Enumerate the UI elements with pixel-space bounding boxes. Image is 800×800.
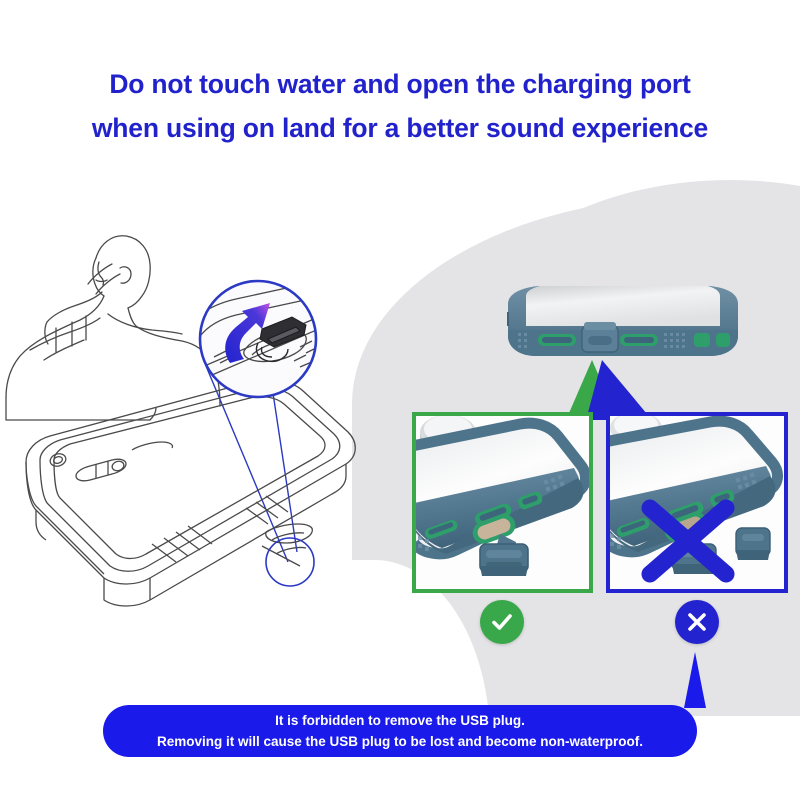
status-badge-incorrect	[675, 600, 719, 644]
infographic-page: Do not touch water and open the charging…	[0, 0, 800, 800]
title-line-2: when using on land for a better sound ex…	[0, 106, 800, 150]
check-icon	[489, 609, 515, 635]
page-title: Do not touch water and open the charging…	[0, 62, 800, 150]
close-icon	[684, 609, 710, 635]
blue-arrow-to-port	[586, 360, 652, 420]
panel-usb-plug-attached	[412, 412, 593, 593]
converging-arrows	[470, 360, 710, 420]
title-line-1: Do not touch water and open the charging…	[0, 62, 800, 106]
magnified-charging-port-detail	[196, 277, 320, 401]
caption-pointer-arrow	[680, 652, 710, 708]
panel-usb-plug-removed	[606, 412, 788, 593]
caption-line-2: Removing it will cause the USB plug to b…	[157, 731, 643, 752]
status-badge-correct	[480, 600, 524, 644]
charging-port-cover	[582, 322, 618, 352]
caption-line-1: It is forbidden to remove the USB plug.	[275, 710, 525, 731]
warning-caption-box: It is forbidden to remove the USB plug. …	[103, 705, 697, 757]
phone-line-art-illustration	[0, 210, 380, 630]
